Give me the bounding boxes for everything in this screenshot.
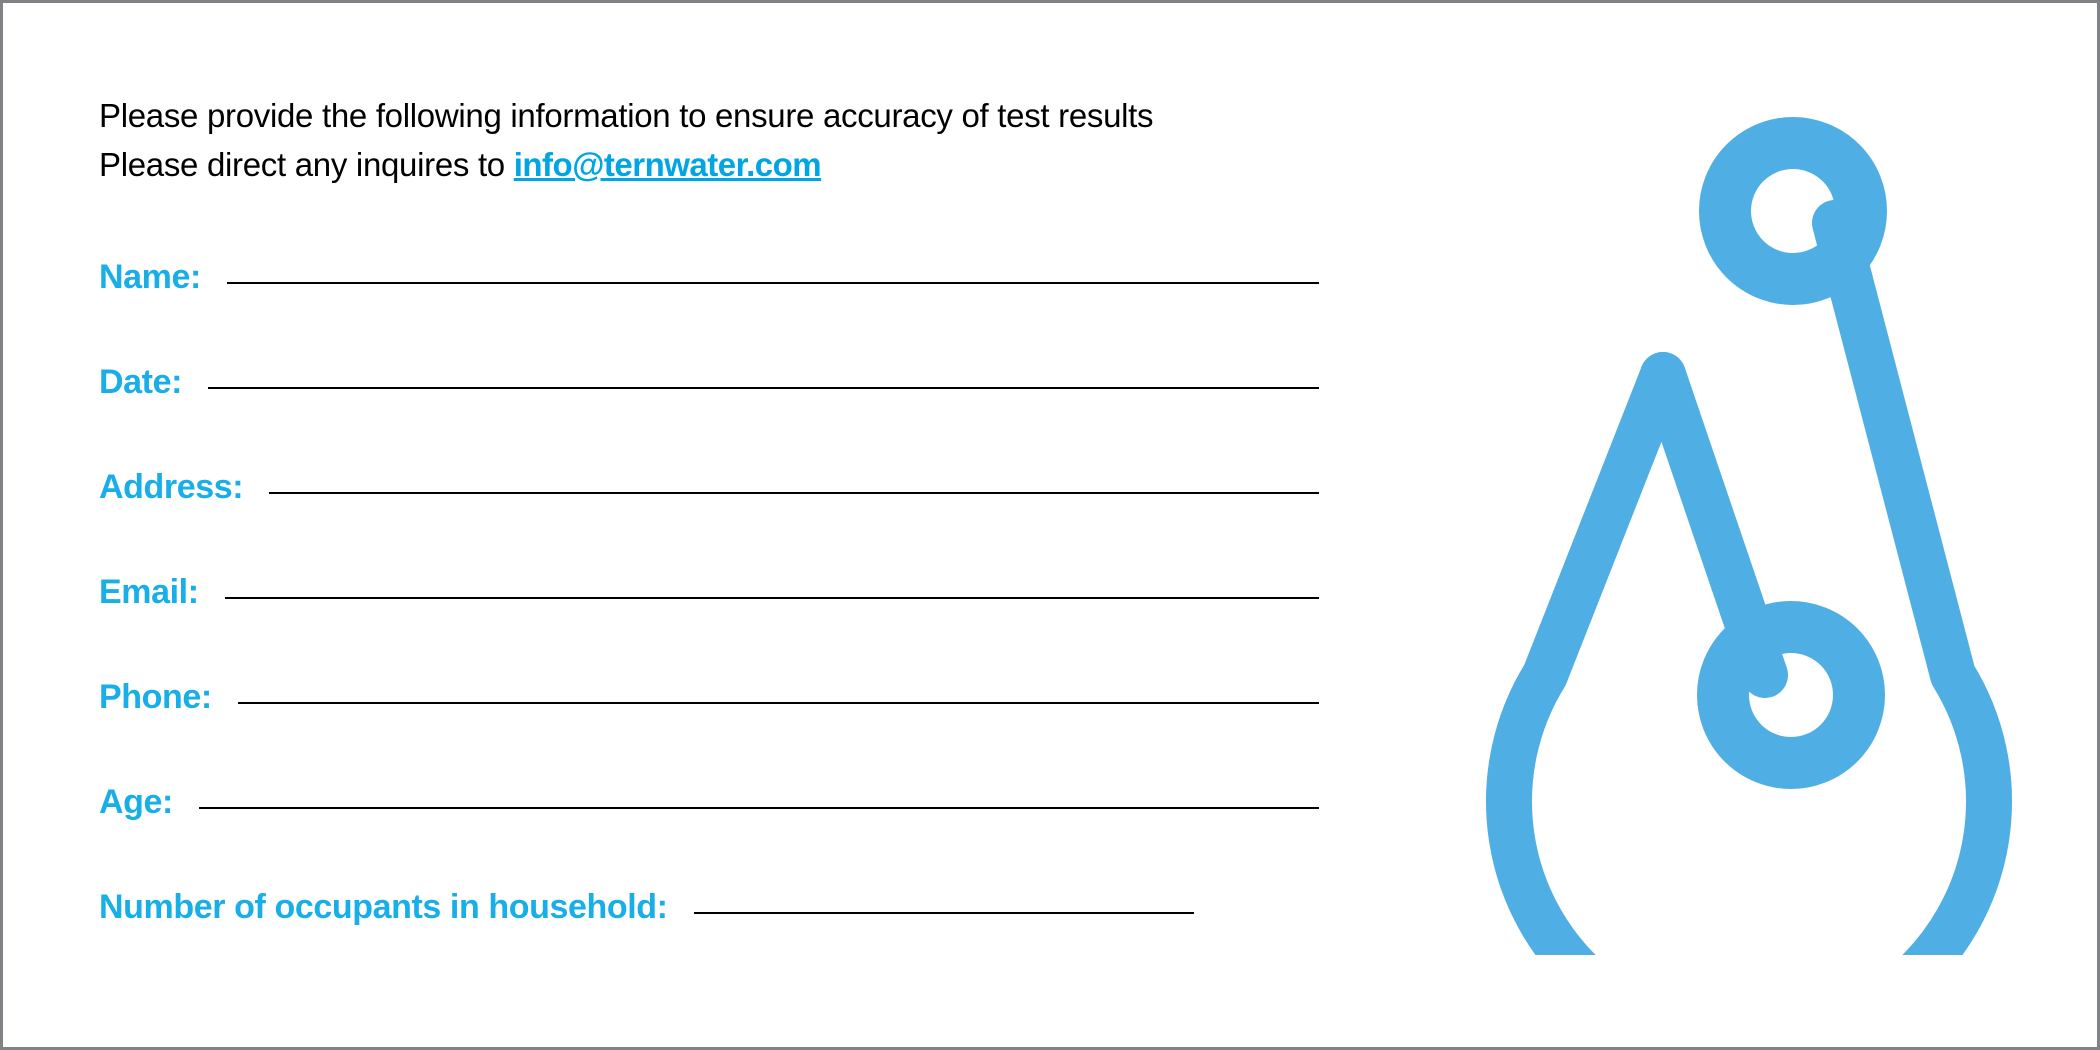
label-date: Date: — [99, 363, 208, 402]
intro-line-2: Please direct any inquires to info@ternw… — [99, 140, 1399, 189]
label-occupants: Number of occupants in household: — [99, 888, 694, 927]
input-phone[interactable] — [238, 702, 1319, 704]
droplet-outline-group — [1509, 223, 1989, 955]
field-row-occupants: Number of occupants in household: — [99, 888, 1319, 993]
input-email[interactable] — [225, 597, 1319, 599]
form-page: Please provide the following information… — [0, 0, 2100, 1050]
label-age: Age: — [99, 783, 199, 822]
field-row-phone: Phone: — [99, 678, 1319, 783]
support-email-link[interactable]: info@ternwater.com — [514, 146, 821, 183]
label-phone: Phone: — [99, 678, 238, 717]
input-occupants[interactable] — [694, 912, 1194, 914]
field-row-age: Age: — [99, 783, 1319, 888]
label-email: Email: — [99, 573, 225, 612]
intro-paragraph: Please provide the following information… — [99, 91, 1399, 189]
ternwater-droplet-logo — [1435, 115, 2015, 955]
input-name[interactable] — [227, 282, 1319, 284]
field-row-email: Email: — [99, 573, 1319, 678]
field-row-date: Date: — [99, 363, 1319, 468]
droplet-bottom-ring — [1723, 627, 1859, 763]
input-age[interactable] — [199, 807, 1319, 809]
input-date[interactable] — [208, 387, 1319, 389]
input-address[interactable] — [269, 492, 1319, 494]
label-name: Name: — [99, 258, 227, 297]
intro-line-2-prefix: Please direct any inquires to — [99, 146, 514, 183]
droplet-top-ring — [1725, 143, 1861, 279]
label-address: Address: — [99, 468, 269, 507]
field-row-address: Address: — [99, 468, 1319, 573]
form-fields: Name: Date: Address: Email: Phone: Age: … — [99, 258, 1319, 993]
field-row-name: Name: — [99, 258, 1319, 363]
intro-line-1: Please provide the following information… — [99, 91, 1399, 140]
